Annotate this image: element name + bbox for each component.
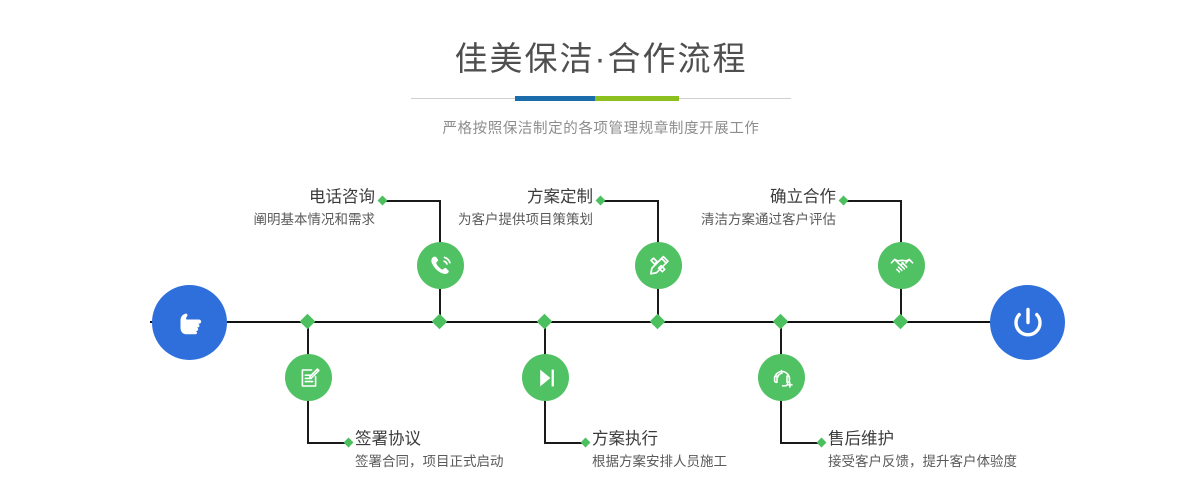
step-3-icon-node[interactable] (635, 242, 682, 289)
timeline-axis (150, 321, 1055, 323)
timeline-start-node[interactable] (152, 285, 227, 360)
step-4-title: 方案执行 (592, 428, 727, 450)
step-3-title: 方案定制 (458, 186, 593, 208)
step-6-icon-node[interactable] (758, 354, 805, 401)
axis-diamond-3 (537, 314, 553, 330)
axis-diamond-5 (773, 314, 789, 330)
step-2-icon-node[interactable] (285, 354, 332, 401)
handshake-icon (888, 252, 916, 280)
step-5-title: 确立合作 (701, 186, 836, 208)
step-6-label: 售后维护 接受客户反馈，提升客户体验度 (828, 428, 1017, 473)
pencil-ruler-icon (645, 252, 673, 280)
axis-diamond-1 (300, 314, 316, 330)
axis-diamond-6 (893, 314, 909, 330)
step-1-label-diamond (378, 196, 388, 206)
step-1-connector-horizontal (383, 200, 440, 202)
step-1-icon-node[interactable] (417, 242, 464, 289)
step-1-desc: 阐明基本情况和需求 (254, 209, 376, 231)
step-2-label-diamond (344, 438, 354, 448)
pointing-hand-icon (170, 303, 210, 343)
timeline-end-node[interactable] (990, 285, 1065, 360)
step-1-label: 电话咨询 阐明基本情况和需求 (254, 186, 376, 231)
step-3-label: 方案定制 为客户提供项目策策划 (458, 186, 593, 231)
step-5-icon-node[interactable] (878, 242, 925, 289)
step-1-title: 电话咨询 (254, 186, 376, 208)
axis-diamond-4 (650, 314, 666, 330)
step-4-icon-node[interactable] (522, 354, 569, 401)
step-3-label-diamond (596, 196, 606, 206)
document-edit-icon (295, 364, 323, 392)
step-2-title: 签署协议 (355, 428, 504, 450)
step-3-desc: 为客户提供项目策策划 (458, 209, 593, 231)
step-2-desc: 签署合同，项目正式启动 (355, 451, 504, 473)
step-5-label-diamond (839, 196, 849, 206)
step-2-label: 签署协议 签署合同，项目正式启动 (355, 428, 504, 473)
step-5-connector-horizontal (844, 200, 901, 202)
step-5-desc: 清洁方案通过客户评估 (701, 209, 836, 231)
customer-service-add-icon (768, 364, 796, 392)
process-flow-infographic: 佳美保洁·合作流程 严格按照保洁制定的各项管理规章制度开展工作 (0, 0, 1202, 502)
power-button-icon (1007, 302, 1049, 344)
step-5-label: 确立合作 清洁方案通过客户评估 (701, 186, 836, 231)
timeline: 电话咨询 阐明基本情况和需求 方案定制 为客户提供项目策策划 (0, 0, 1202, 502)
step-4-label-diamond (581, 438, 591, 448)
step-6-desc: 接受客户反馈，提升客户体验度 (828, 451, 1017, 473)
step-4-label: 方案执行 根据方案安排人员施工 (592, 428, 727, 473)
step-6-label-diamond (817, 438, 827, 448)
axis-diamond-2 (432, 314, 448, 330)
step-3-connector-horizontal (601, 200, 658, 202)
phone-call-icon (427, 252, 455, 280)
step-4-desc: 根据方案安排人员施工 (592, 451, 727, 473)
step-6-title: 售后维护 (828, 428, 1017, 450)
play-execute-icon (532, 364, 560, 392)
